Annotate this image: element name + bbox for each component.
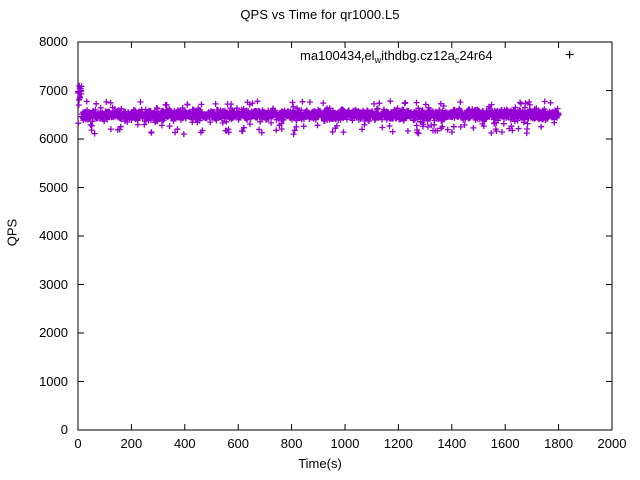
plot-frame <box>78 42 612 430</box>
plot-area <box>0 0 640 480</box>
data-point-series <box>75 83 562 137</box>
chart-container: QPS vs Time for qr1000.L5 ma100434relwit… <box>0 0 640 480</box>
scatter-markers <box>75 83 562 137</box>
